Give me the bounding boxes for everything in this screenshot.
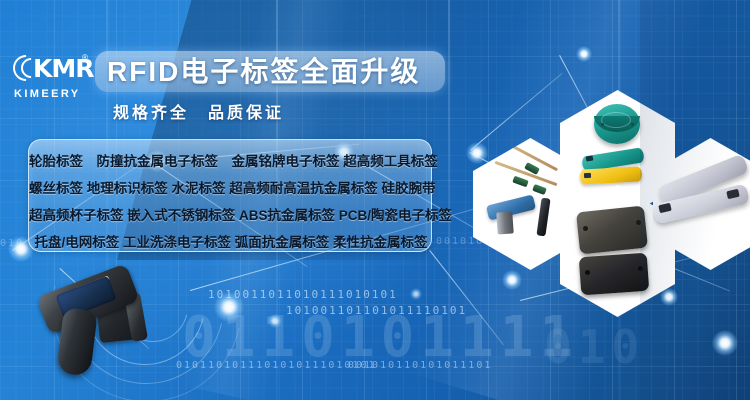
product-tag-panel: 轮胎标签 防撞抗金属电子标签 金属铭牌电子标签 超高频工具标签 螺丝标签 地理标…	[28, 139, 432, 252]
glow-node	[576, 46, 592, 62]
page-subtitle: 规格齐全 品质保证	[113, 99, 284, 123]
binary-large-decoration: 010	[544, 320, 645, 374]
page-title: RFID电子标签全面升级	[107, 52, 437, 92]
tag-row: 轮胎标签 防撞抗金属电子标签 金属铭牌电子标签 超高频工具标签	[29, 150, 433, 170]
binary-decoration: 010	[0, 238, 24, 249]
kimeery-logo[interactable]: KMR ® KIMEERY	[13, 52, 95, 108]
logo-mark: KMR ®	[13, 52, 95, 86]
glow-node	[466, 142, 488, 164]
handheld-rfid-reader[interactable]	[36, 275, 161, 385]
round-disc-tag-groove	[601, 112, 631, 128]
metal-stud	[496, 211, 513, 234]
glow-node	[502, 270, 522, 290]
binary-large-decoration: 0110101111	[182, 305, 579, 370]
screw-tag-bead	[532, 184, 547, 195]
company-name: KIMEERY	[14, 88, 81, 100]
binary-decoration: 1010011011010111010101	[208, 288, 398, 301]
disc-screw-hole	[631, 123, 634, 126]
glow-node	[712, 330, 738, 356]
registered-trademark-symbol: ®	[82, 53, 88, 62]
disc-screw-hole	[601, 123, 604, 126]
yellow-tag-chip	[584, 173, 591, 178]
tag-row: 螺丝标签 地理标识标签 水泥标签 超高频耐高温抗金属标签 硅胶腕带	[29, 177, 433, 197]
tag-row: 超高频杯子标签 嵌入式不锈钢标签 ABS抗金属标签 PCB/陶瓷电子标签	[29, 204, 433, 224]
tag-row: 托盘/电网标签 工业洗涤电子标签 弧面抗金属标签 柔性抗金属标签	[29, 231, 433, 251]
screw-tag-bead	[512, 176, 528, 188]
glow-node	[410, 288, 422, 300]
rfid-promotional-banner: 1010011011010111010101 10100110110101111…	[0, 0, 750, 400]
bar-tag	[536, 198, 550, 237]
reader-pistol-grip	[56, 307, 98, 377]
